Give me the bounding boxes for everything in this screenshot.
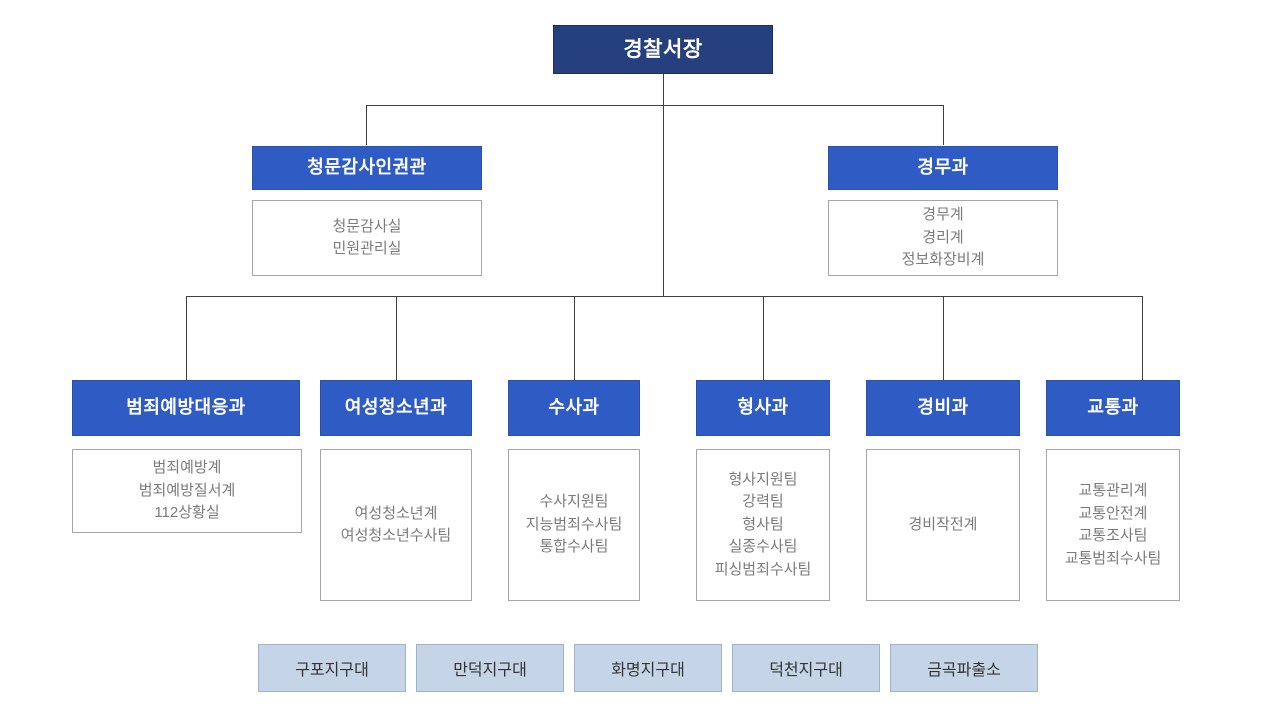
- list-item: 교통조사팀: [1078, 525, 1147, 548]
- list-item: 여성청소년계: [355, 503, 438, 526]
- list-item: 피싱범죄수사팀: [715, 559, 812, 582]
- list-item: 경무계: [922, 204, 963, 227]
- node-general-affairs-items: 경무계 경리계 정보화장비계: [828, 200, 1058, 276]
- node-women-youth-dept[interactable]: 여성청소년과: [320, 380, 472, 436]
- list-item: 형사팀: [742, 514, 783, 537]
- list-item: 교통관리계: [1078, 480, 1147, 503]
- node-criminal-dept-items: 형사지원팀 강력팀 형사팀 실종수사팀 피싱범죄수사팀: [696, 449, 830, 601]
- node-inspection-office[interactable]: 청문감사인권관: [252, 146, 482, 190]
- list-item: 실종수사팀: [728, 536, 797, 559]
- list-item: 범죄예방질서계: [139, 480, 236, 503]
- list-item: 지능범죄수사팀: [526, 514, 623, 537]
- list-item: 교통안전계: [1078, 503, 1147, 526]
- list-item: 통합수사팀: [539, 536, 608, 559]
- node-crime-prevention-dept[interactable]: 범죄예방대응과: [72, 380, 300, 436]
- connector-dept-drop-3: [763, 296, 764, 380]
- node-substation-mandeok[interactable]: 만덕지구대: [416, 644, 564, 692]
- connector-dept-drop-5: [1142, 296, 1143, 380]
- connector-dept-drop-0: [186, 296, 187, 380]
- node-general-affairs[interactable]: 경무과: [828, 146, 1058, 190]
- list-item: 경리계: [922, 227, 963, 250]
- list-item: 여성청소년수사팀: [341, 525, 451, 548]
- list-item: 형사지원팀: [728, 469, 797, 492]
- list-item: 범죄예방계: [152, 457, 221, 480]
- node-substation-hwamyeong[interactable]: 화명지구대: [574, 644, 722, 692]
- list-item: 경비작전계: [908, 514, 977, 537]
- node-police-chief[interactable]: 경찰서장: [553, 25, 773, 74]
- connector-dept-drop-1: [396, 296, 397, 380]
- list-item: 청문감사실: [332, 216, 401, 239]
- node-criminal-dept[interactable]: 형사과: [696, 380, 830, 436]
- node-traffic-dept[interactable]: 교통과: [1046, 380, 1180, 436]
- connector-dept-bus: [186, 296, 1143, 297]
- connector-staff-drop-1: [943, 105, 944, 145]
- connector-dept-drop-2: [574, 296, 575, 380]
- connector-staff-drop-0: [366, 105, 367, 145]
- org-chart: 경찰서장 청문감사인권관 청문감사실 민원관리실 경무과 경무계 경리계 정보화…: [0, 0, 1280, 720]
- list-item: 강력팀: [742, 491, 783, 514]
- node-women-youth-dept-items: 여성청소년계 여성청소년수사팀: [320, 449, 472, 601]
- list-item: 민원관리실: [332, 238, 401, 261]
- node-traffic-dept-items: 교통관리계 교통안전계 교통조사팀 교통범죄수사팀: [1046, 449, 1180, 601]
- connector-staff-bus: [366, 105, 944, 106]
- node-investigation-dept[interactable]: 수사과: [508, 380, 640, 436]
- node-investigation-dept-items: 수사지원팀 지능범죄수사팀 통합수사팀: [508, 449, 640, 601]
- node-substation-gupo[interactable]: 구포지구대: [258, 644, 406, 692]
- node-crime-prevention-dept-items: 범죄예방계 범죄예방질서계 112상황실: [72, 449, 302, 533]
- list-item: 112상황실: [154, 502, 219, 525]
- node-substation-deokcheon[interactable]: 덕천지구대: [732, 644, 880, 692]
- connector-root-stem: [663, 74, 664, 296]
- list-item: 교통범죄수사팀: [1065, 548, 1162, 571]
- connector-dept-drop-4: [943, 296, 944, 380]
- list-item: 정보화장비계: [902, 249, 985, 272]
- node-substation-geumgok[interactable]: 금곡파출소: [890, 644, 1038, 692]
- list-item: 수사지원팀: [539, 491, 608, 514]
- node-security-dept[interactable]: 경비과: [866, 380, 1020, 436]
- node-inspection-office-items: 청문감사실 민원관리실: [252, 200, 482, 276]
- node-security-dept-items: 경비작전계: [866, 449, 1020, 601]
